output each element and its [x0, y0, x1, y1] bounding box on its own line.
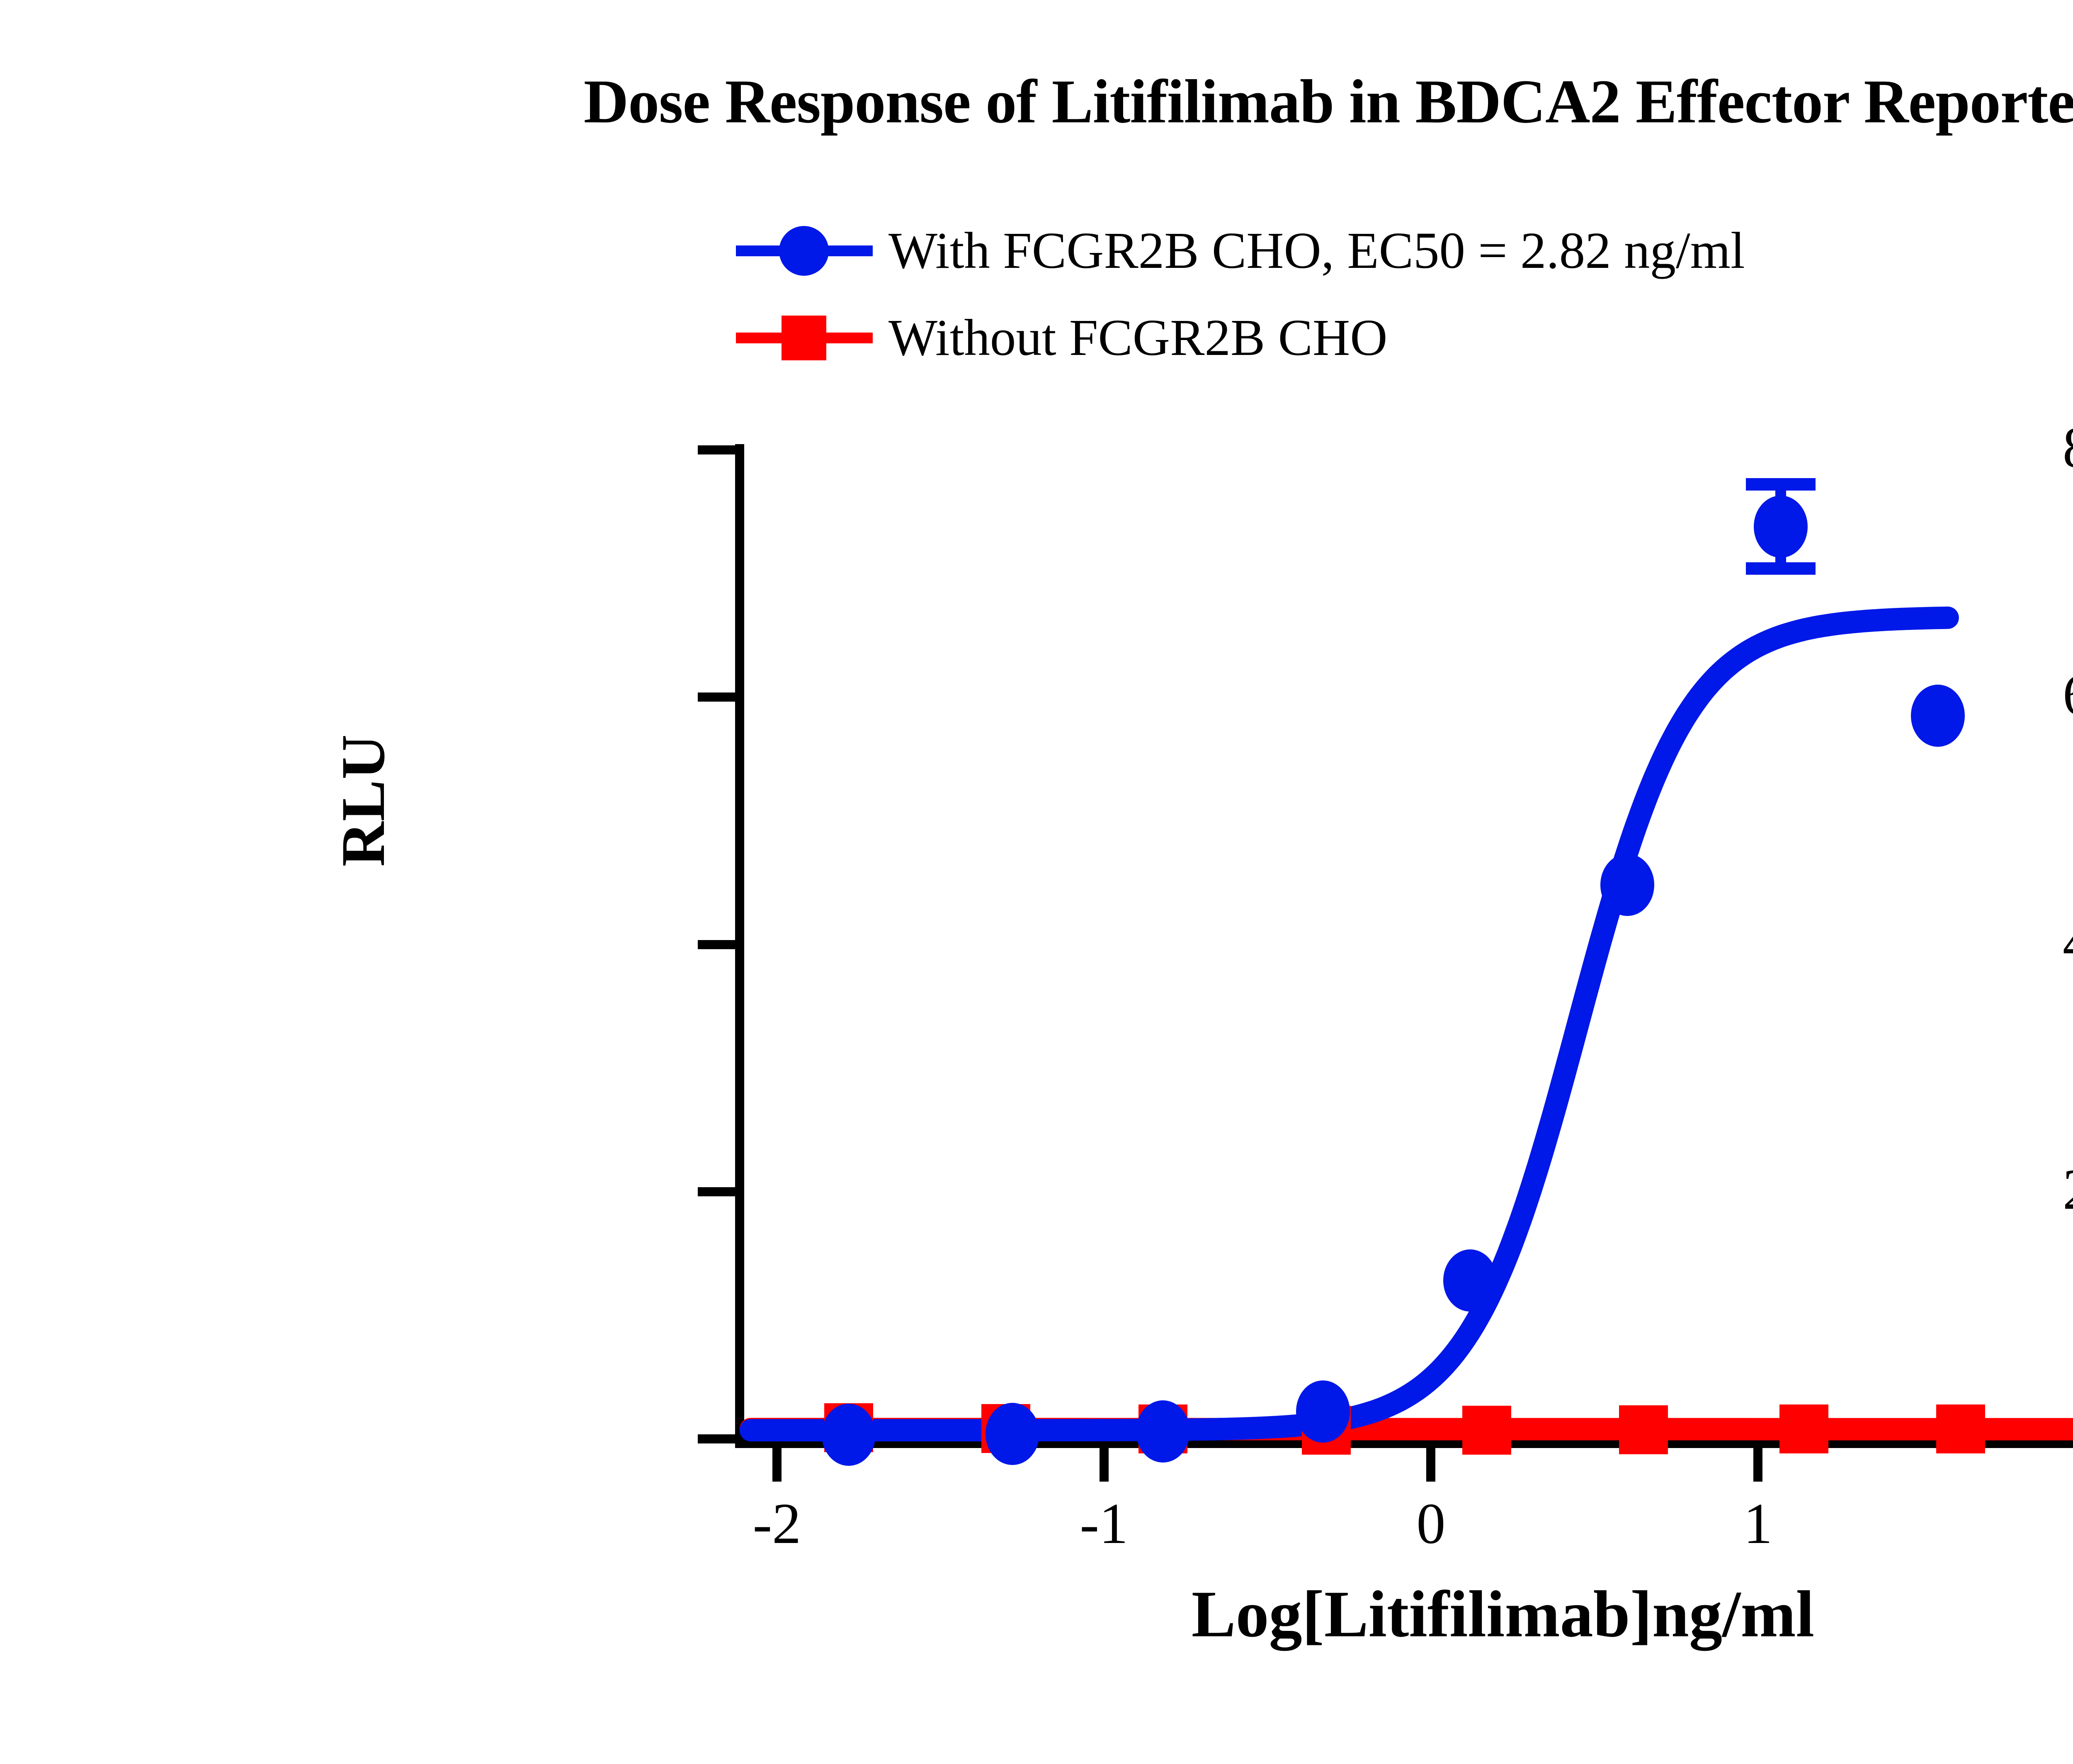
- x-axis-tick: [772, 1443, 782, 1482]
- legend-label-without-fcgr2b: Without FCGR2B CHO: [873, 312, 1388, 364]
- data-point-with-fcgr2b: [1600, 854, 1654, 916]
- x-axis-tick-label: -2: [673, 1495, 881, 1553]
- y-axis-tick: [698, 692, 736, 702]
- x-axis-title: Log[Litifilimab]ng/ml: [744, 1576, 2073, 1652]
- data-point-with-fcgr2b: [1911, 685, 1965, 747]
- x-axis-tick: [1753, 1443, 1762, 1482]
- y-axis-tick: [698, 1187, 736, 1196]
- legend-label-with-fcgr2b: With FCGR2B CHO, EC50 = 2.82 ng/ml: [873, 225, 1745, 277]
- y-axis-tick: [698, 445, 736, 454]
- data-point-with-fcgr2b: [1754, 496, 1808, 558]
- data-series-layer: [744, 450, 2073, 1439]
- square-marker-icon: [736, 313, 873, 363]
- circle-marker-icon: [736, 226, 873, 276]
- data-point-without-fcgr2b: [1619, 1405, 1668, 1454]
- chart-figure: Dose Response of Litifilimab in BDCA2 Ef…: [0, 0, 2073, 1764]
- fit-curve-with-fcgr2b: [751, 618, 1948, 1430]
- y-axis-tick: [698, 1434, 736, 1443]
- x-axis-tick-label: 0: [1327, 1495, 1534, 1553]
- data-point-with-fcgr2b: [822, 1404, 876, 1466]
- y-axis-tick: [698, 940, 736, 949]
- data-point-with-fcgr2b: [986, 1403, 1039, 1465]
- error-bar-cap: [1746, 478, 1816, 491]
- y-axis-title: RLU: [328, 734, 399, 867]
- data-point-without-fcgr2b: [1936, 1404, 1985, 1453]
- fit-curves: [744, 450, 2073, 1439]
- x-axis-tick-label: 1: [1654, 1495, 1862, 1553]
- x-axis-tick: [1426, 1443, 1435, 1482]
- plot-area: 020000400006000080000-2-1012: [744, 450, 2073, 1439]
- error-bar-cap: [1746, 562, 1816, 575]
- data-point-without-fcgr2b: [1779, 1404, 1828, 1453]
- page-title: Dose Response of Litifilimab in BDCA2 Ef…: [0, 70, 2073, 133]
- x-axis-tick-label: 2: [1981, 1495, 2073, 1553]
- legend-item-with-fcgr2b[interactable]: With FCGR2B CHO, EC50 = 2.82 ng/ml: [736, 207, 2073, 294]
- x-axis-tick: [1100, 1443, 1109, 1482]
- chart-legend: With FCGR2B CHO, EC50 = 2.82 ng/ml Witho…: [736, 207, 2073, 381]
- x-axis-tick-label: -1: [1000, 1495, 1208, 1553]
- data-point-with-fcgr2b: [1296, 1380, 1350, 1443]
- data-point-with-fcgr2b: [1136, 1400, 1190, 1463]
- legend-item-without-fcgr2b[interactable]: Without FCGR2B CHO: [736, 294, 2073, 381]
- data-point-without-fcgr2b: [1462, 1406, 1511, 1455]
- data-point-with-fcgr2b: [1443, 1249, 1497, 1312]
- y-axis-line: [735, 444, 744, 1439]
